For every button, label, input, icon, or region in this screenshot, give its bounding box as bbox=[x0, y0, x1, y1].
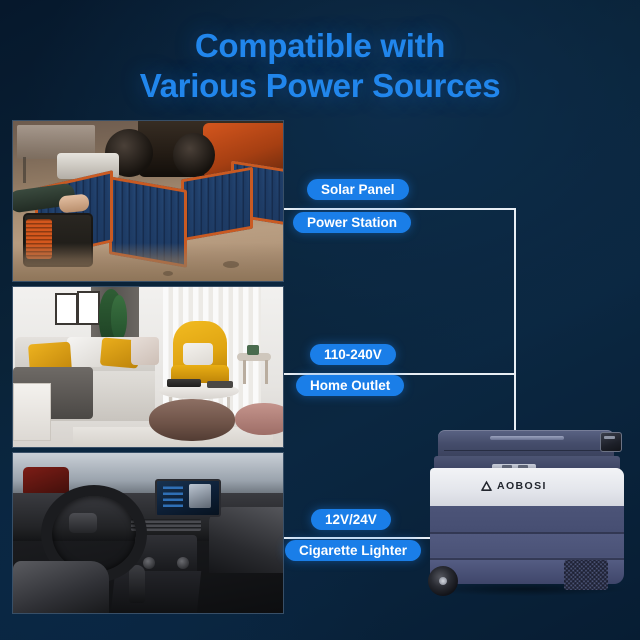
lid-seam bbox=[444, 450, 608, 451]
gear-shifter bbox=[129, 565, 145, 603]
dirt-ground bbox=[13, 243, 283, 282]
potted-plant bbox=[247, 345, 259, 355]
vehicle-tire bbox=[173, 133, 215, 177]
floor-cushion bbox=[235, 403, 284, 435]
brand-name: AOBOSI bbox=[497, 480, 547, 492]
infographic-root: Compatible with Various Power Sources bbox=[0, 0, 640, 640]
page-title: Compatible with Various Power Sources bbox=[0, 26, 640, 106]
aobosi-triangle-icon bbox=[480, 480, 493, 492]
passenger-door-panel bbox=[209, 507, 283, 573]
screen-content bbox=[189, 484, 211, 508]
ground-speck bbox=[223, 261, 239, 268]
driver-seat bbox=[13, 561, 109, 613]
beige-pillow bbox=[131, 337, 159, 365]
pill-voltage-dc[interactable]: 12V/24V bbox=[311, 509, 391, 530]
control-panel-display[interactable] bbox=[600, 432, 622, 452]
side-table-leg bbox=[243, 360, 246, 384]
solar-panel-photo bbox=[12, 120, 284, 282]
cactus-plant bbox=[111, 295, 127, 341]
pill-solar-panel[interactable]: Solar Panel bbox=[307, 179, 409, 200]
steering-wheel-hub bbox=[69, 513, 97, 533]
table-leg bbox=[23, 157, 26, 183]
center-console bbox=[111, 571, 201, 613]
pill-cigarette-lighter[interactable]: Cigarette Lighter bbox=[285, 540, 421, 561]
screen-content bbox=[163, 485, 183, 507]
side-table-leg bbox=[265, 360, 268, 384]
control-knob bbox=[177, 557, 189, 569]
pill-power-station[interactable]: Power Station bbox=[293, 212, 411, 233]
pill-home-outlet[interactable]: Home Outlet bbox=[296, 375, 404, 396]
living-room-photo bbox=[12, 286, 284, 448]
pill-voltage-ac[interactable]: 110-240V bbox=[310, 344, 396, 365]
wall-art-frame bbox=[55, 293, 78, 325]
wall-art-frame bbox=[77, 291, 100, 325]
car-interior-photo bbox=[12, 452, 284, 614]
display-readout bbox=[604, 436, 615, 439]
tabletop-item bbox=[167, 379, 201, 387]
connector-line-top bbox=[282, 208, 516, 210]
white-pillow bbox=[67, 337, 103, 367]
armchair-cushion bbox=[183, 343, 213, 365]
body-seam bbox=[430, 532, 624, 534]
ottoman-pouf bbox=[149, 399, 235, 441]
wheel-hub bbox=[439, 577, 447, 585]
connector-line-vertical bbox=[514, 208, 516, 430]
lid-handle-recess bbox=[490, 436, 564, 440]
brand-logo: AOBOSI bbox=[480, 480, 547, 492]
ground-speck bbox=[163, 271, 173, 276]
solar-panel-section bbox=[181, 167, 253, 242]
ventilation-grille bbox=[564, 560, 608, 590]
title-line-2: Various Power Sources bbox=[0, 66, 640, 106]
side-drawer-unit bbox=[13, 383, 51, 441]
control-knob bbox=[143, 557, 155, 569]
title-line-1: Compatible with bbox=[195, 27, 445, 64]
portable-car-refrigerator: AOBOSI bbox=[424, 424, 632, 592]
tabletop-item bbox=[207, 381, 233, 388]
